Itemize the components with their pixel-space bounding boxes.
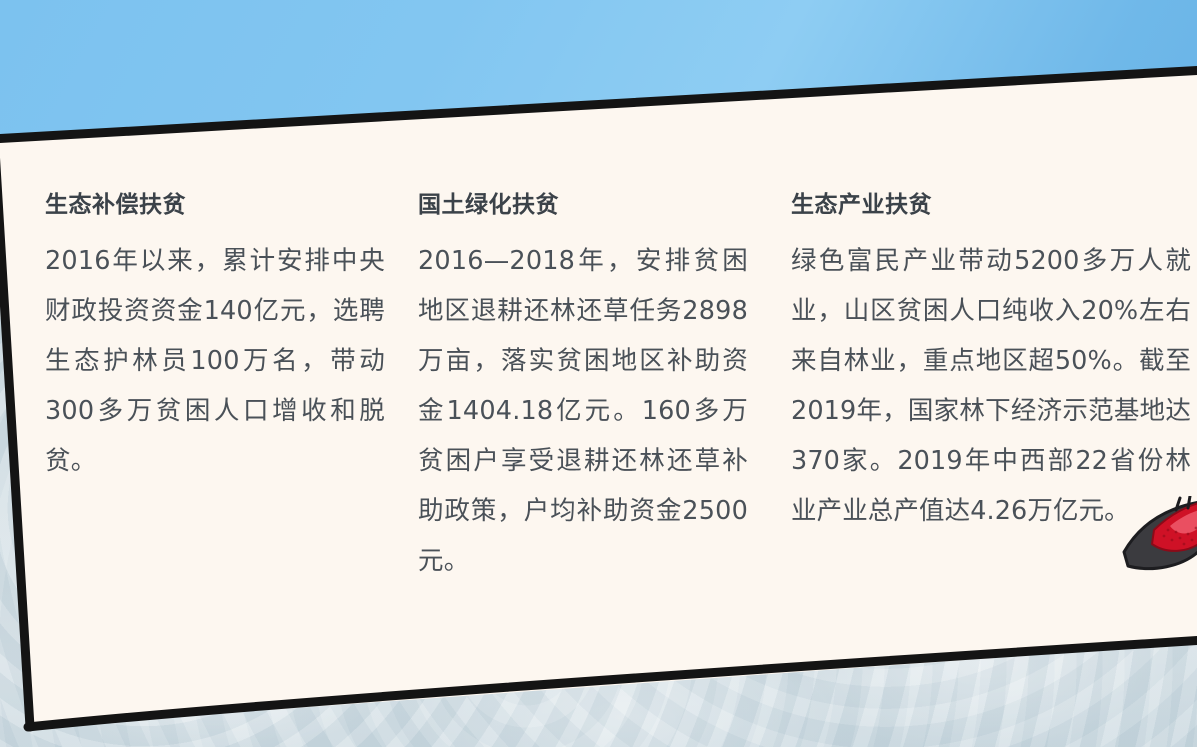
column-3-heading: 生态产业扶贫	[791, 192, 1191, 220]
column-3-body: 绿色富民产业带动5200多万人就业，山区贫困人口纯收入20%左右来自林业，重点地…	[791, 236, 1191, 536]
column-container: 生态补偿扶贫 2016年以来，累计安排中央财政投资资金140亿元，选聘生态护林员…	[0, 0, 1197, 747]
column-ecological-industry: 生态产业扶贫 绿色富民产业带动5200多万人就业，山区贫困人口纯收入20%左右来…	[791, 192, 1191, 536]
column-ecological-compensation: 生态补偿扶贫 2016年以来，累计安排中央财政投资资金140亿元，选聘生态护林员…	[45, 192, 385, 486]
column-2-heading: 国土绿化扶贫	[418, 192, 748, 220]
column-2-body: 2016—2018年，安排贫困地区退耕还林还草任务2898万亩，落实贫困地区补助…	[418, 236, 748, 586]
infographic-stage: 生态补偿扶贫 2016年以来，累计安排中央财政投资资金140亿元，选聘生态护林员…	[0, 0, 1197, 747]
column-1-body: 2016年以来，累计安排中央财政投资资金140亿元，选聘生态护林员100万名，带…	[45, 236, 385, 486]
column-1-heading: 生态补偿扶贫	[45, 192, 385, 220]
column-land-greening: 国土绿化扶贫 2016—2018年，安排贫困地区退耕还林还草任务2898万亩，落…	[418, 192, 748, 586]
